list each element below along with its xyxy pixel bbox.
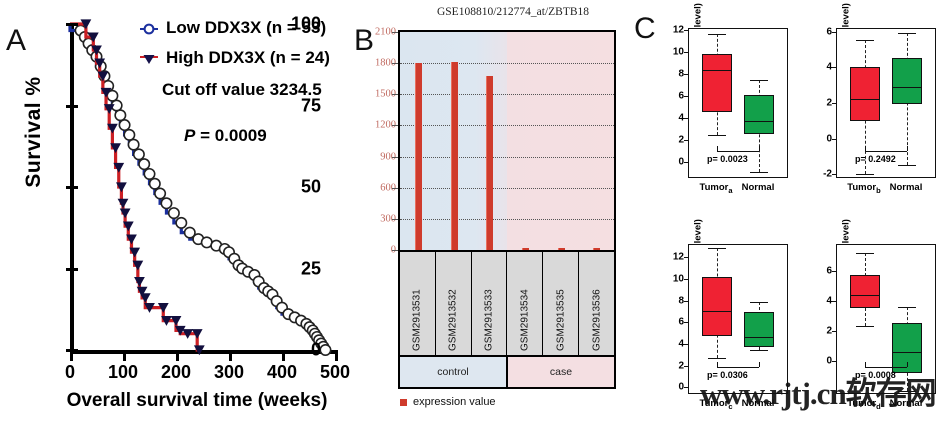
sample-label-text: GSM2913533 [484,289,495,351]
boxplot-y-tick [684,118,688,119]
open-circle-marker-icon [150,179,160,189]
panel-b-y-tick-label: 900 [352,151,396,162]
panel-b-legend: expression value [400,396,496,408]
boxplot-y-tick-label: 4 [662,339,684,350]
panel-b-y-tick-label: 1800 [352,58,396,69]
boxplot-y-tick-label: 0 [662,156,684,167]
figure-canvas: A Survival % Overall survival time (week… [0,0,940,435]
panel-a-x-tick-label: 0 [50,362,90,383]
boxplot-y-tick [832,361,836,362]
panel-b-gridline [400,157,614,158]
panel-b-y-tick-label: 1500 [352,89,396,100]
panel-b-gridline [400,219,614,220]
panel-a-x-tick [229,350,232,361]
panel-a-pvalue-note: P = 0.0009 [184,126,350,146]
boxplot-y-tick-label: 2 [662,134,684,145]
boxplot-median-line [892,352,922,353]
open-circle-marker-icon [176,218,186,228]
boxplot-y-tick [684,387,688,388]
open-circle-marker-icon [115,110,125,120]
boxplot-y-tick-label: 0 [662,382,684,393]
boxplot-x-axis-label: Normal [728,182,788,193]
sample-label-cell: GSM2913535 [543,252,579,355]
pvalue-label: p= 0.2492 [855,154,896,164]
boxplot-whisker-cap [708,34,726,35]
sample-label-text: GSM2913535 [555,289,566,351]
panel-a-x-tick-label: 200 [156,362,196,383]
tumor-box [850,67,880,121]
site-watermark: www.rjtj.cn软存网 [700,368,936,413]
panel-b-sample-labels: GSM2913531GSM2913532GSM2913533GSM2913534… [398,252,616,357]
boxplot-y-tick-label: 4 [810,62,832,73]
pvalue-label: p= 0.0023 [707,154,748,164]
expression-bar [522,248,529,250]
panel-a-legend: Low DDX3X (n = 53) High DDX3X (n = 24) C… [140,14,350,146]
pvalue-value: = 0.0009 [195,126,266,145]
panel-a-y-axis-label: Survival % [22,62,46,202]
panel-b-gridline [400,94,614,95]
boxplot-frame: p= 0.2492 [836,28,936,178]
panel-a-y-tick [66,23,78,26]
normal-box [744,312,774,347]
panel-a-y-tick-label: 50 [275,177,321,198]
sample-label-text: GSM2913531 [412,289,423,351]
panel-a-x-tick-label: 500 [315,362,355,383]
panel-a-y-tick-label: 25 [275,258,321,279]
expression-bar [451,62,458,250]
panel-c-letter: C [634,14,656,44]
boxplot-y-tick [684,366,688,367]
boxplot-y-tick [832,67,836,68]
legend-item-high: High DDX3X (n = 24) [140,44,350,74]
boxplot-whisker-cap [750,80,768,81]
boxplot-y-tick [684,30,688,31]
sample-label-cell: GSM2913531 [400,252,436,355]
boxplot-y-tick [832,103,836,104]
boxplot-y-tick-label: 6 [810,266,832,277]
boxplot-whisker-cap [750,302,768,303]
boxplot-whisker-cap [750,172,768,173]
panel-a-y-tick [66,186,78,189]
boxplot-y-tick [684,162,688,163]
boxplot-tumor-b: log2(Expression level)p= 0.2492-20246Tum… [802,6,940,220]
boxplot-y-tick [684,96,688,97]
open-circle-marker-icon [140,20,158,38]
boxplot-tumor-a: log2(Expression level)p= 0.0023024681012… [654,6,797,220]
legend-item-low: Low DDX3X (n = 53) [140,14,350,44]
boxplot-whisker-cap [856,174,874,175]
boxplot-median-line [744,121,774,122]
boxplot-y-tick-label: 2 [662,360,684,371]
panel-a-x-tick [335,350,338,361]
expression-bar [415,63,422,250]
open-circle-marker-icon [161,198,171,208]
sample-label-cell: GSM2913532 [436,252,472,355]
boxplot-y-tick [832,139,836,140]
panel-a-y-tick [66,268,78,271]
panel-a-x-tick-label: 300 [209,362,249,383]
boxplot-y-tick-label: 10 [662,47,684,58]
panel-b-gridline [400,63,614,64]
open-circle-marker-icon [169,208,179,218]
boxplot-whisker-cap [750,350,768,351]
filled-triangle-marker-icon [134,277,145,287]
pvalue-bracket [717,151,759,152]
normal-box [744,95,774,134]
panel-a-x-tick-label: 400 [262,362,302,383]
boxplot-y-tick-label: 6 [662,317,684,328]
group-cell-control: control [400,357,508,387]
boxplot-whisker-cap [856,40,874,41]
boxplot-whisker-cap [708,135,726,136]
panel-b-group-labels: control case [398,357,616,389]
pvalue-bracket-tick [759,362,760,367]
filled-triangle-marker-icon [120,208,131,218]
open-circle-marker-icon [134,149,144,159]
panel-a-cutoff-note: Cut off value 3234.5 [162,80,350,100]
panel-a-x-tick [70,350,73,361]
pvalue-bracket-tick [865,146,866,151]
boxplot-y-tick-label: 4 [810,296,832,307]
boxplot-whisker-cap [708,248,726,249]
filled-triangle-marker-icon [140,50,158,68]
sample-label-cell: GSM2913534 [507,252,543,355]
open-circle-marker-icon [128,139,138,149]
boxplot-y-tick-label: 6 [810,26,832,37]
boxplot-median-line [850,99,880,100]
boxplot-y-tick-label: 0 [810,133,832,144]
boxplot-y-tick [832,331,836,332]
filled-triangle-marker-icon [194,345,205,355]
boxplot-whisker-cap [898,307,916,308]
tumor-box [850,275,880,308]
panel-b-y-tick-label: 600 [352,182,396,193]
boxplot-median-line [702,311,732,312]
sample-label-cell: GSM2913533 [472,252,508,355]
panel-b-gridline [400,125,614,126]
boxplot-y-tick-label: 10 [662,273,684,284]
panel-a-x-tick [123,350,126,361]
legend-label-low: Low DDX3X (n = 53) [166,18,326,38]
panel-a-x-axis-label: Overall survival time (weeks) [52,390,342,412]
pvalue-bracket-tick [717,146,718,151]
panel-b-geo-profile: B GSE108810/212774_at/ZBTB18 03006009001… [352,0,640,435]
boxplot-y-tick-label: -2 [810,169,832,180]
boxplot-x-axis-label: Normal [876,182,936,193]
boxplot-frame: p= 0.0023 [688,28,788,178]
panel-b-y-tick-label: 2100 [352,27,396,38]
pvalue-bracket-tick [907,362,908,367]
boxplot-y-tick [684,74,688,75]
pvalue-bracket [865,151,907,152]
boxplot-median-line [892,87,922,88]
panel-a-x-tick [282,350,285,361]
boxplot-y-tick [684,257,688,258]
boxplot-whisker-cap [898,33,916,34]
panel-b-legend-label: expression value [413,396,496,408]
expression-bar [486,76,493,250]
group-cell-case: case [508,357,614,387]
boxplot-y-tick [684,322,688,323]
pvalue-bracket-tick [865,362,866,367]
panel-b-gridline [400,188,614,189]
pvalue-bracket-tick [907,146,908,151]
panel-b-y-tick-label: 300 [352,213,396,224]
boxplot-y-tick [684,52,688,53]
sample-label-text: GSM2913534 [519,289,530,351]
panel-b-title: GSE108810/212774_at/ZBTB18 [388,6,638,18]
boxplot-y-tick [684,344,688,345]
open-circle-marker-icon [320,345,330,355]
boxplot-y-tick-label: 8 [662,68,684,79]
boxplot-y-tick [832,32,836,33]
boxplot-y-tick-label: 8 [662,295,684,306]
boxplot-median-line [744,337,774,338]
panel-b-y-tick-label: 1200 [352,120,396,131]
pvalue-bracket-tick [717,362,718,367]
open-circle-marker-icon [119,120,129,130]
panel-a-x-tick-label: 100 [103,362,143,383]
panel-a-letter: A [6,26,26,56]
panel-a-x-tick [176,350,179,361]
boxplot-whisker-cap [856,326,874,327]
boxplot-y-tick [832,301,836,302]
boxplot-median-line [702,70,732,71]
filled-triangle-marker-icon [118,199,129,209]
tumor-box [702,277,732,337]
boxplot-y-tick-label: 6 [662,90,684,101]
boxplot-y-tick [832,271,836,272]
boxplot-whisker-cap [898,165,916,166]
open-circle-marker-icon [124,130,134,140]
open-circle-marker-icon [139,159,149,169]
open-circle-marker-icon [155,188,165,198]
panel-a-y-tick [66,105,78,108]
panel-b-y-tick-label: 0 [352,245,396,256]
expression-bar [558,248,565,250]
normal-box [892,58,922,104]
boxplot-y-tick [832,174,836,175]
tumor-box [702,54,732,112]
sample-label-text: GSM2913532 [448,289,459,351]
boxplot-y-tick-label: 0 [810,356,832,367]
pvalue-bracket-tick [759,146,760,151]
expression-bar [593,248,600,250]
open-circle-marker-icon [144,169,154,179]
panel-a-survival-curve: A Survival % Overall survival time (week… [0,0,352,435]
pvalue-symbol: P [184,126,195,145]
boxplot-y-tick-label: 12 [662,25,684,36]
panel-b-plot-area [398,30,616,252]
boxplot-whisker-cap [708,358,726,359]
boxplot-whisker-cap [856,253,874,254]
boxplot-y-tick [684,140,688,141]
sample-label-cell: GSM2913536 [579,252,614,355]
boxplot-y-tick [684,279,688,280]
boxplot-y-tick [684,301,688,302]
panel-b-case-background [507,32,614,250]
boxplot-y-tick-label: 12 [662,252,684,263]
legend-label-high: High DDX3X (n = 24) [166,48,330,68]
boxplot-y-tick-label: 2 [810,98,832,109]
expression-value-swatch-icon [400,399,407,406]
boxplot-y-tick-label: 4 [662,112,684,123]
boxplot-y-tick-label: 2 [810,326,832,337]
boxplot-median-line [850,295,880,296]
sample-label-text: GSM2913536 [591,289,602,351]
